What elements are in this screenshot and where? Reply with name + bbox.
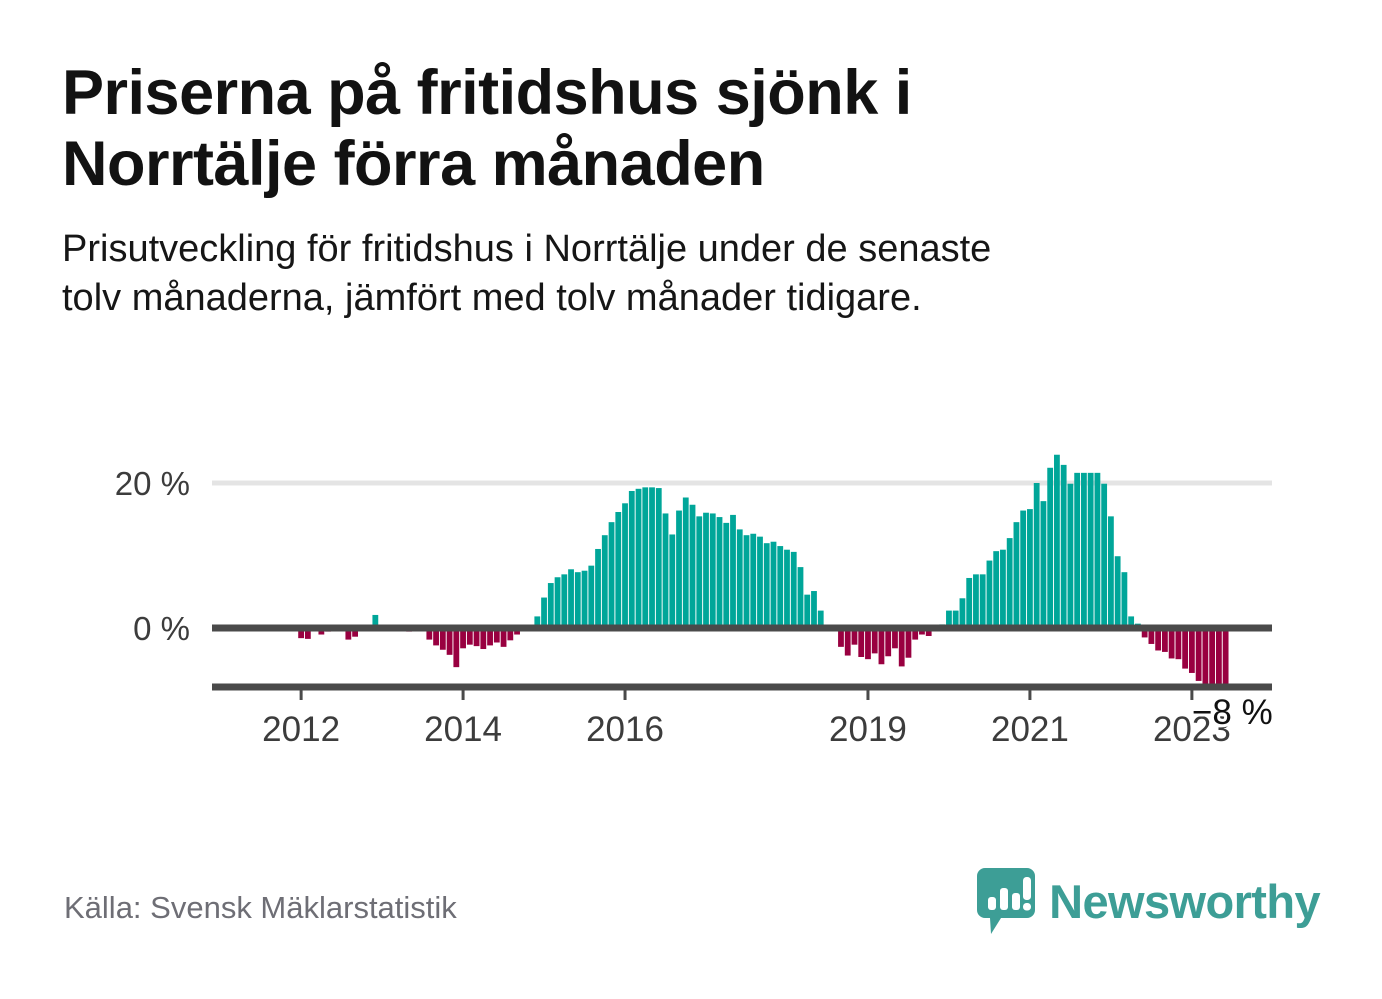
bar [1074,473,1080,628]
x-axis-tick-label: 2021 [991,710,1069,749]
bar [865,628,871,659]
bar [1061,465,1067,628]
bar [696,516,702,628]
bar [784,550,790,628]
brand-lockup[interactable]: Newsworthy [977,868,1320,934]
bar [973,574,979,628]
bar [771,542,777,628]
chart-page: Priserna på fritidshus sjönk i Norrtälje… [0,0,1382,999]
bar [1175,628,1181,659]
bar [1189,628,1195,673]
bar [723,523,729,628]
x-axis-tick-label: 2012 [262,710,340,749]
bar [568,569,574,628]
chart-container: 0 %20 % 201220142016201920212023 −8 %−8 … [0,430,1382,780]
bar-chart: 0 %20 % 201220142016201920212023 −8 %−8 … [0,430,1382,780]
bar [858,628,864,657]
x-axis-tick-label: 2014 [424,710,502,749]
bar [683,498,689,629]
source-note: Källa: Svensk Mäklarstatistik [64,890,457,926]
bar [1182,628,1188,669]
bar [804,595,810,628]
bar [703,513,709,628]
footer: Källa: Svensk Mäklarstatistik Newsworthy [0,860,1382,970]
bar [1169,628,1175,658]
bar [588,566,594,628]
bar [656,488,662,628]
bar [966,578,972,628]
bar [1108,516,1114,628]
bar [555,577,561,628]
chart-subtitle: Prisutveckling för fritidshus i Norrtälj… [62,225,1292,322]
bar [1020,511,1026,628]
header: Priserna på fritidshus sjönk i Norrtälje… [62,58,1322,322]
bar [980,574,986,628]
bar [447,628,453,655]
bar [636,489,642,628]
bar-series [298,455,1228,688]
bar [561,574,567,628]
bar [642,487,648,628]
bar [798,567,804,628]
bar [1041,501,1047,628]
bar [548,583,554,628]
bar [609,522,615,628]
bar [676,511,682,628]
bar [737,529,743,628]
speech-bubble-bar-chart-icon [977,868,1035,934]
bar [750,534,756,628]
bar [602,535,608,628]
bar [1216,628,1222,687]
bar [622,503,628,628]
bar [872,628,878,653]
x-axis: 201220142016201920212023 [212,687,1272,749]
bar [993,551,999,628]
bar [710,513,716,628]
bar [791,552,797,628]
value-annotations: −8 %−8 % [1192,693,1273,732]
x-axis-tick-label: 2016 [586,710,664,749]
bar [879,628,885,664]
x-axis-tick-label: 2019 [829,710,907,749]
bar [1122,572,1128,628]
bar [764,543,770,628]
bar [629,491,635,628]
bar [1034,483,1040,628]
bar [1014,522,1020,628]
bar [1101,484,1107,628]
bar [1115,556,1121,628]
bar [906,628,912,658]
bar [649,487,655,628]
bar [1209,628,1215,686]
bar [1088,473,1094,628]
bar [960,598,966,628]
bar [1223,628,1229,686]
bar [615,512,621,628]
page-title: Priserna på fritidshus sjönk i Norrtälje… [62,58,1072,199]
bar [690,505,696,628]
bar [757,537,763,628]
bar [1000,550,1006,628]
bar [885,628,891,656]
value-annotation: −8 % [1192,693,1273,732]
bar [595,549,601,628]
bar [987,561,993,628]
bar [1202,628,1208,685]
bar [1095,473,1101,628]
bar [663,513,669,628]
bar [1068,484,1074,628]
bar [1054,455,1060,628]
bar [717,517,723,628]
bar [845,628,851,656]
brand-name: Newsworthy [1049,878,1320,925]
bar [1007,538,1013,628]
bar [1081,473,1087,628]
bar [1196,628,1202,681]
y-axis-tick-label: 20 % [115,465,190,502]
bar [669,534,675,628]
bar [1027,509,1033,628]
bar [453,628,459,667]
bar [582,571,588,628]
bar [1047,468,1053,628]
y-axis-tick-labels: 0 %20 % [115,465,190,647]
bar [1162,628,1168,652]
bar [730,515,736,628]
bar [541,598,547,628]
bar [575,572,581,628]
bar [899,628,905,666]
y-axis-tick-label: 0 % [133,610,190,647]
bar [777,546,783,628]
bar [811,591,817,628]
bar [744,535,750,628]
